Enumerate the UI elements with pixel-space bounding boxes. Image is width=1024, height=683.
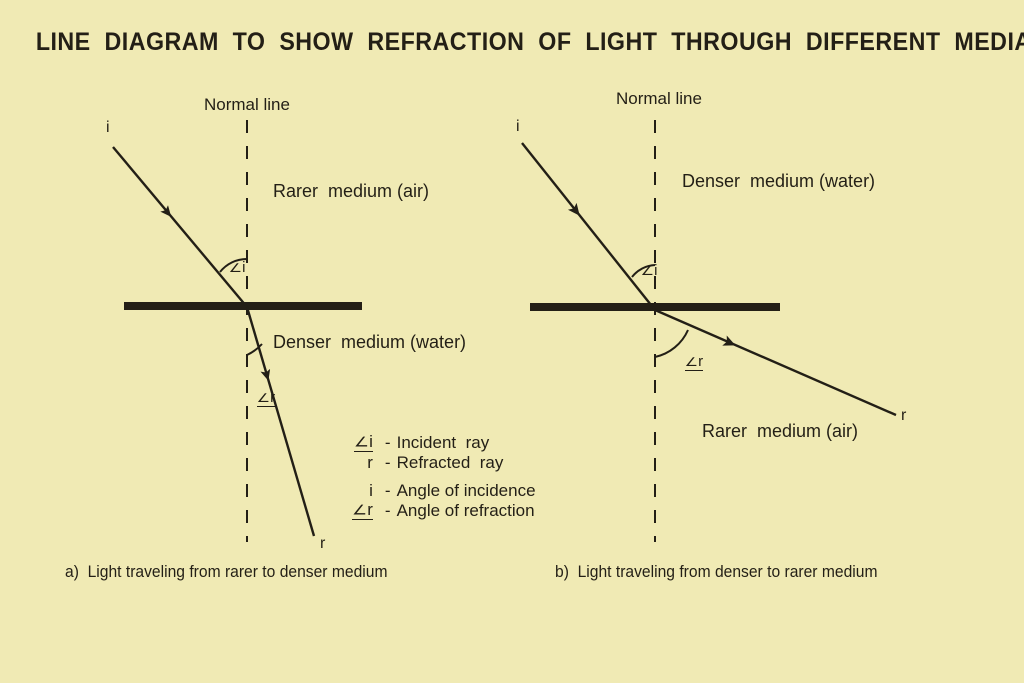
angle-incidence-label-a: ∠i — [212, 245, 245, 290]
legend-text: Angle of refraction — [397, 500, 536, 521]
legend-symbol: i — [352, 472, 379, 500]
legend-row: r-Refracted ray — [352, 453, 536, 472]
legend-row: i-Angle of incidence — [352, 472, 536, 500]
angle-symbol-icon: ∠r — [257, 390, 275, 407]
legend-text: Refracted ray — [397, 453, 536, 472]
legend-dash: - — [379, 453, 397, 472]
page-title: LINE DIAGRAM TO SHOW REFRACTION OF LIGHT… — [36, 30, 988, 55]
angle-symbol-icon: ∠r — [352, 501, 373, 520]
refracted-ray-letter-b: r — [901, 408, 906, 424]
legend-text: Angle of incidence — [397, 472, 536, 500]
caption-b: b) Light traveling from denser to rarer … — [555, 563, 878, 580]
angle-symbol-icon: ∠ — [641, 263, 654, 278]
legend-dash: - — [379, 500, 397, 521]
upper-medium-label-b: Denser medium (water) — [682, 172, 875, 190]
angle-symbol-icon: ∠r — [685, 354, 703, 371]
angle-symbol-icon: ∠ — [229, 260, 242, 275]
refracted-ray-letter-a: r — [320, 536, 325, 552]
legend-symbol: ∠i — [352, 432, 379, 453]
lower-medium-label-a: Denser medium (water) — [273, 333, 466, 351]
legend: ∠i-Incident rayr-Refracted rayi-Angle of… — [352, 400, 536, 553]
angle-incidence-letter-b: i — [654, 262, 657, 279]
angle-symbol-icon: ∠i — [354, 433, 373, 452]
incident-ray-letter-a: i — [106, 120, 110, 136]
normal-line-label-b: Normal line — [616, 90, 702, 107]
legend-text: Incident ray — [397, 432, 536, 453]
legend-table: ∠i-Incident rayr-Refracted rayi-Angle of… — [352, 432, 536, 521]
legend-dash: - — [379, 432, 397, 453]
legend-row: ∠r-Angle of refraction — [352, 500, 536, 521]
legend-row: ∠i-Incident ray — [352, 432, 536, 453]
angle-incidence-label-b: ∠i — [624, 248, 657, 293]
diagram-canvas: LINE DIAGRAM TO SHOW REFRACTION OF LIGHT… — [0, 0, 1024, 683]
upper-medium-label-a: Rarer medium (air) — [273, 182, 429, 200]
angle-refraction-label-a: ∠r — [240, 375, 275, 422]
normal-line-label-a: Normal line — [204, 96, 290, 113]
legend-symbol: r — [352, 453, 379, 472]
caption-a: a) Light traveling from rarer to denser … — [65, 563, 388, 580]
angle-refraction-label-b: ∠r — [668, 339, 703, 386]
legend-symbol: ∠r — [352, 500, 379, 521]
legend-dash: - — [379, 472, 397, 500]
lower-medium-label-b: Rarer medium (air) — [702, 422, 858, 440]
incident-ray-letter-b: i — [516, 119, 520, 135]
angle-incidence-letter-a: i — [242, 259, 245, 276]
